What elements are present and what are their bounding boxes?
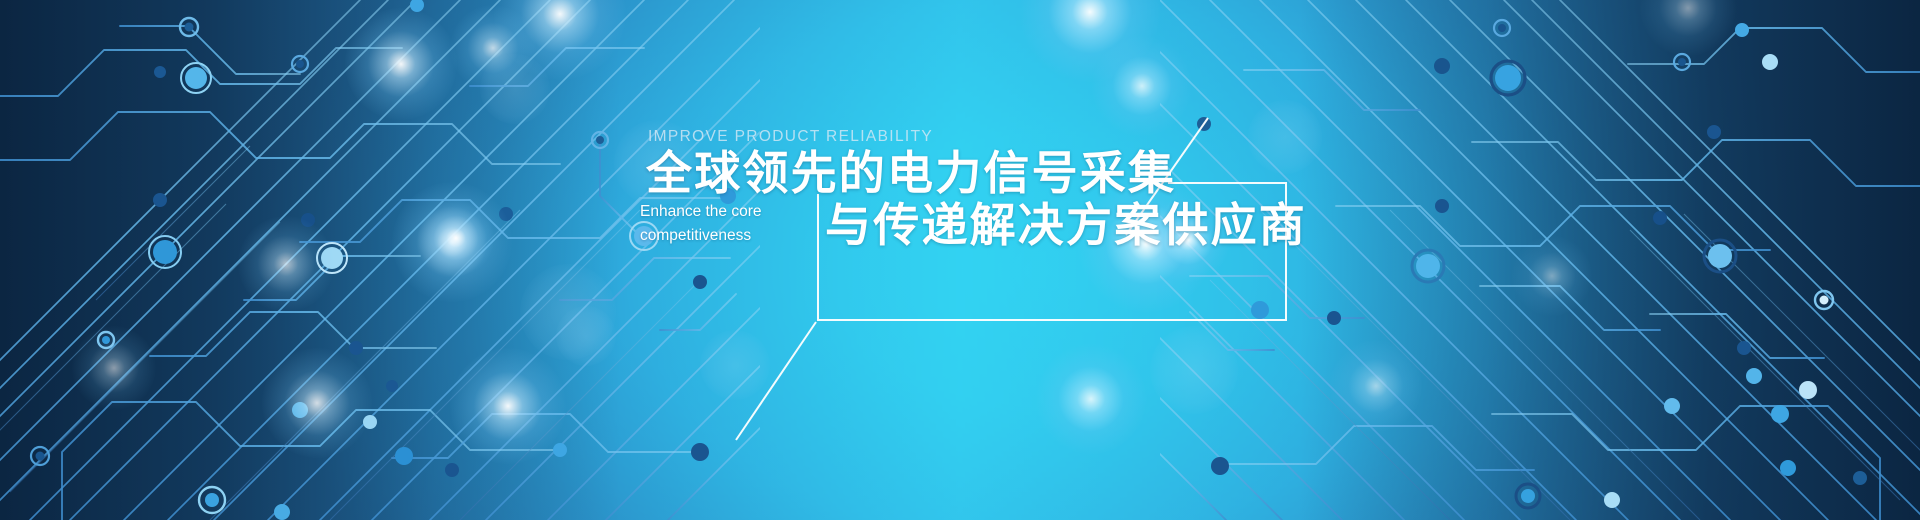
hero-banner: IMPROVE PRODUCT RELIABILITY 全球领先的电力信号采集 …: [0, 0, 1920, 520]
subtitle-line-1: Enhance the core: [640, 200, 805, 224]
copy-block: IMPROVE PRODUCT RELIABILITY 全球领先的电力信号采集 …: [0, 0, 1920, 520]
subtitle-line-2: competitiveness: [640, 224, 805, 248]
eyebrow-text: IMPROVE PRODUCT RELIABILITY: [648, 128, 933, 146]
subtitle-block: Enhance the core competitiveness: [640, 200, 805, 248]
headline-line-2: 与传递解决方案供应商: [825, 202, 1307, 248]
headline-line-1: 全球领先的电力信号采集: [646, 150, 1176, 196]
